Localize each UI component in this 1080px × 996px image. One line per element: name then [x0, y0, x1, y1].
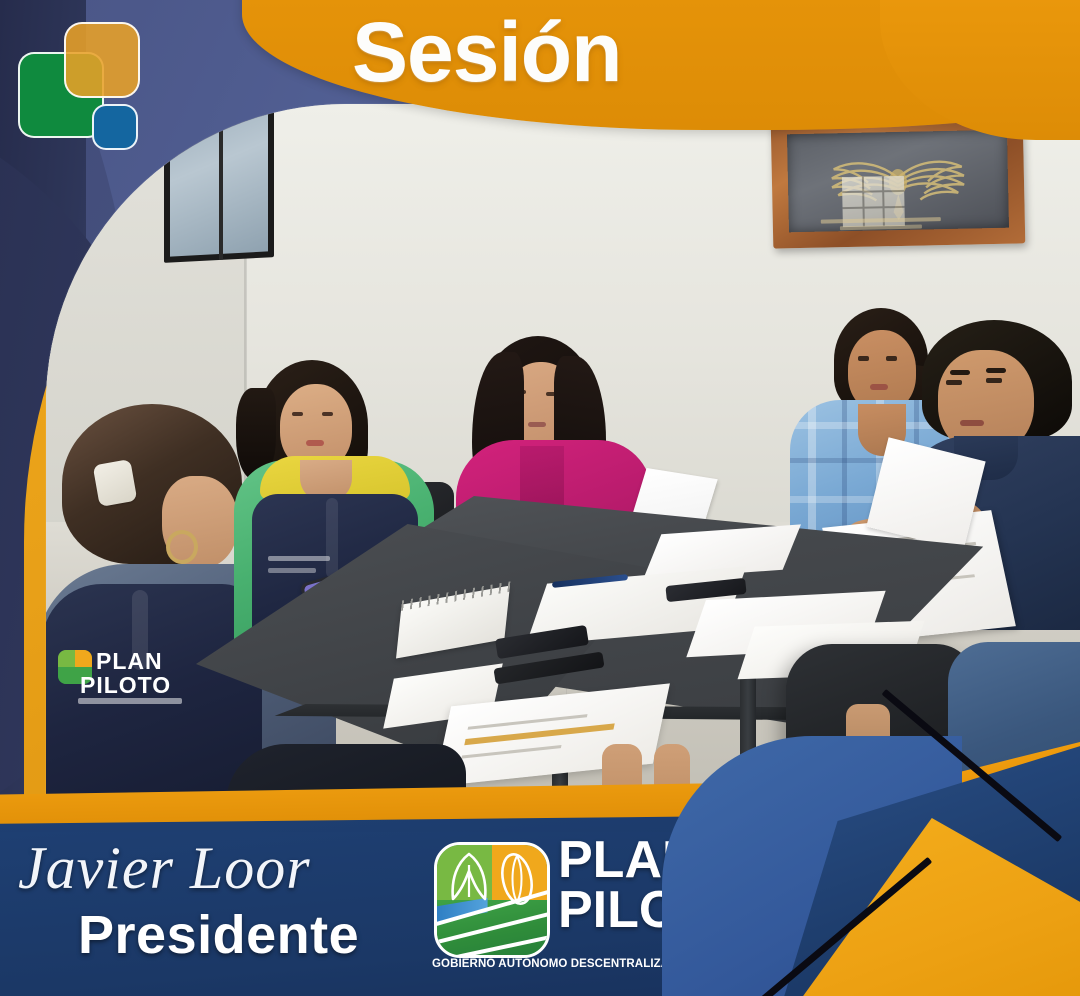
vest-text-piloto: PILOTO [80, 672, 171, 699]
room-window [164, 104, 274, 263]
page-title: Sesión [352, 10, 992, 96]
framed-plaque [771, 115, 1026, 248]
blue-square-icon [92, 104, 138, 150]
orange-square-icon [64, 22, 140, 98]
role-label: Presidente [78, 904, 359, 966]
meeting-photo: PLAN PILOTO [46, 104, 1080, 804]
photo-frame: PLAN PILOTO [46, 104, 1080, 804]
vest-text-plan: PLAN [96, 648, 163, 675]
leaf-icon [443, 851, 495, 905]
poster-canvas: PLAN PILOTO [0, 0, 1080, 996]
logo-marks [12, 16, 144, 164]
earring [166, 530, 198, 564]
plan-piloto-badge-icon [434, 842, 550, 958]
